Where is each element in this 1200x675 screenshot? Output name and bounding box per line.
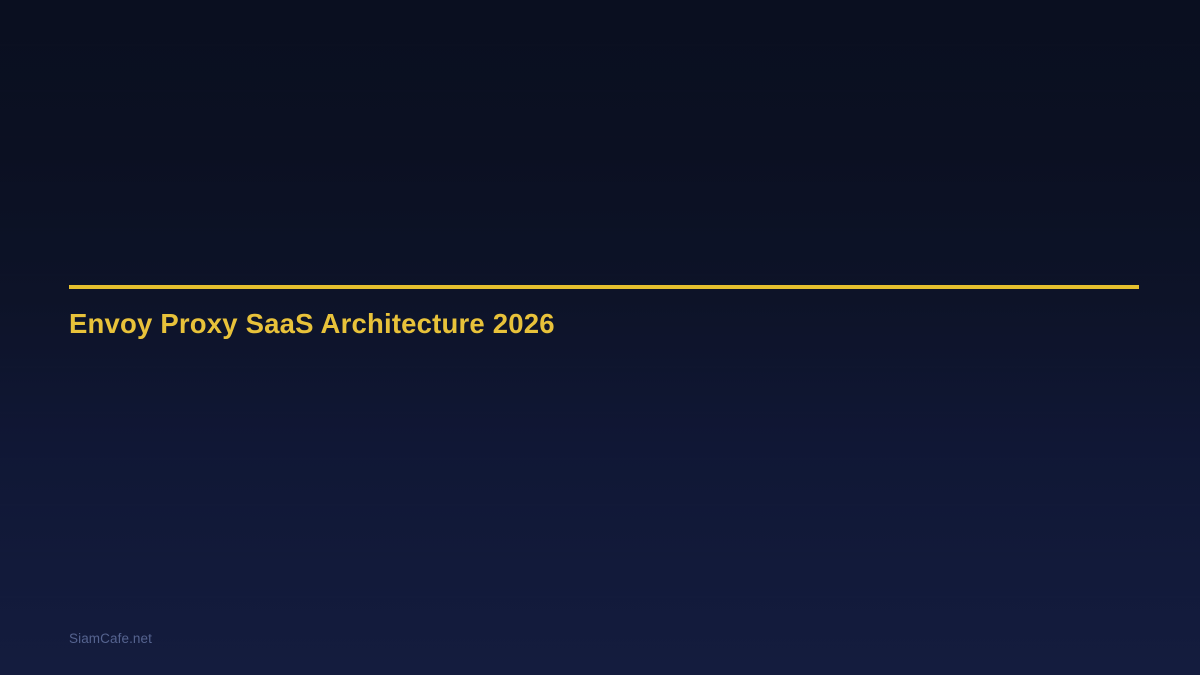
footer-attribution: SiamCafe.net <box>69 631 152 646</box>
title-slide: Envoy Proxy SaaS Architecture 2026 SiamC… <box>0 0 1200 675</box>
title-block: Envoy Proxy SaaS Architecture 2026 <box>69 285 1139 340</box>
page-title: Envoy Proxy SaaS Architecture 2026 <box>69 289 1139 340</box>
